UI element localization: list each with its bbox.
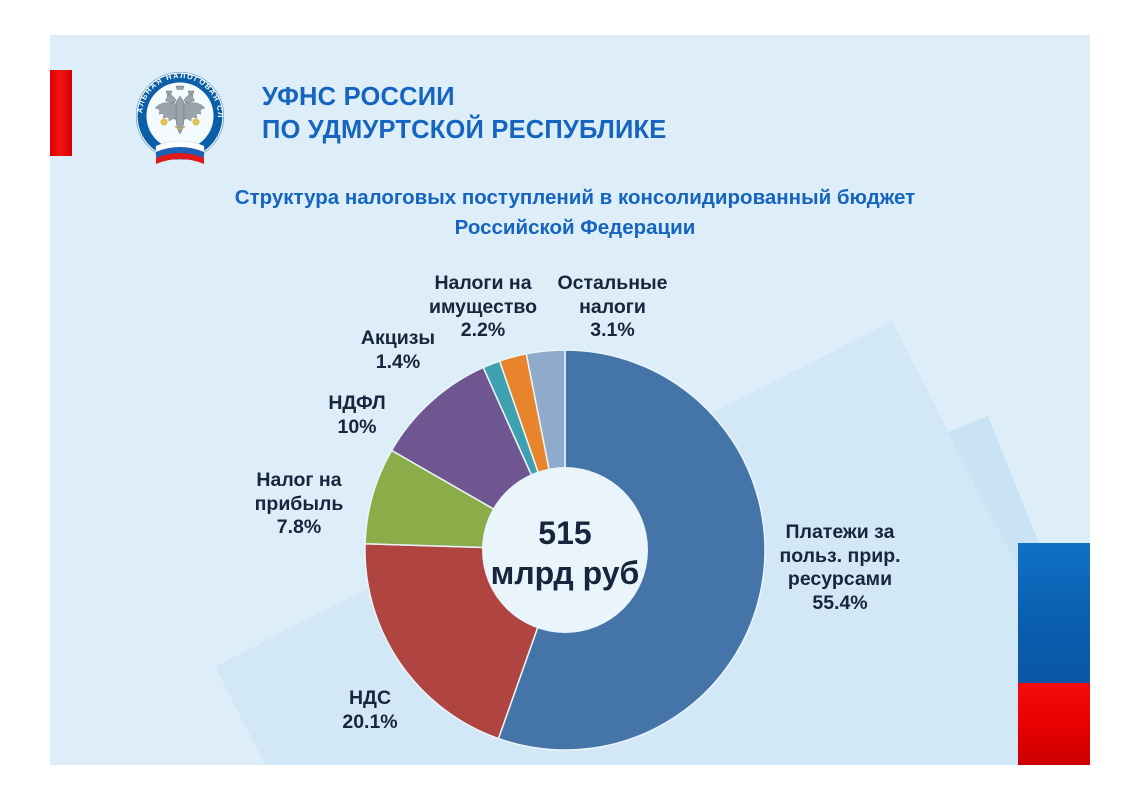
slide-root: ФЕДЕРАЛЬНАЯ НАЛОГОВАЯ СЛУЖБА	[0, 0, 1122, 793]
label-nalog-na-pribyl-pct: 7.8%	[220, 516, 378, 540]
label-ndfl-name: НДФЛ	[328, 392, 385, 414]
label-akcizy-name: Акцизы	[361, 327, 435, 349]
donut-hole	[482, 467, 648, 633]
label-ostalnye-nalogi-pct: 3.1%	[540, 319, 685, 343]
label-nds-pct: 20.1%	[305, 711, 435, 735]
label-nds: НДС 20.1%	[305, 663, 435, 758]
label-ndfl-pct: 10%	[293, 416, 421, 440]
content-panel: ФЕДЕРАЛЬНАЯ НАЛОГОВАЯ СЛУЖБА	[50, 35, 1090, 765]
label-nalog-na-pribyl: Налог на прибыль 7.8%	[220, 445, 378, 564]
label-nalog-na-pribyl-name: Налог на прибыль	[255, 469, 344, 515]
label-nds-name: НДС	[349, 687, 391, 709]
label-prirodnye-resursy-pct: 55.4%	[750, 592, 930, 616]
donut-chart: 515 млрд руб Платежи за польз. прир. рес…	[50, 35, 1090, 765]
label-ostalnye-nalogi-name: Остальные налоги	[557, 272, 667, 318]
label-prirodnye-resursy-name: Платежи за польз. прир. ресурсами	[779, 521, 900, 591]
label-prirodnye-resursy: Платежи за польз. прир. ресурсами 55.4%	[750, 497, 930, 640]
label-ostalnye-nalogi: Остальные налоги 3.1%	[540, 248, 685, 367]
